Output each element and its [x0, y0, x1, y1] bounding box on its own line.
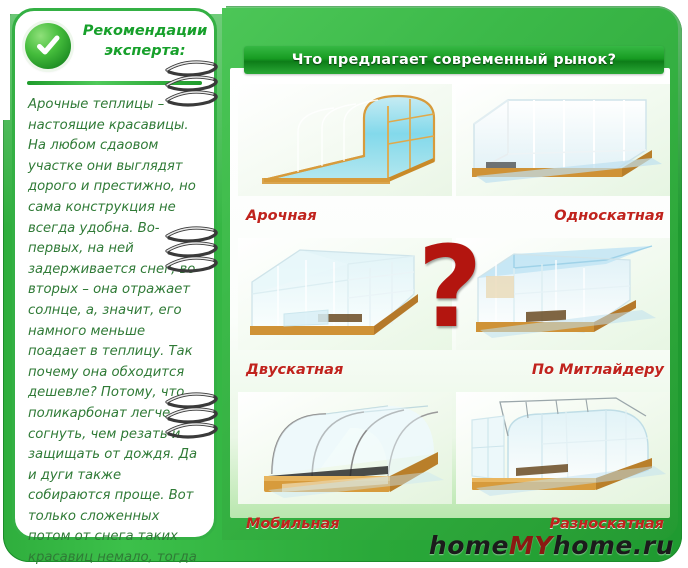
greenhouse-card-mobile[interactable]: Мобильная [238, 392, 452, 532]
watermark-part2: MY [509, 531, 553, 560]
spiral-coil-icon-1 [163, 56, 223, 112]
caption-mobile: Мобильная [246, 516, 460, 532]
card-title-line1: Рекомендации [79, 21, 211, 41]
caption-mittleider: По Митлайдеру [456, 362, 670, 378]
card-body-text: Арочные теплицы – настоящие красавицы. Н… [28, 95, 203, 568]
caption-gable: Двускатная [246, 362, 460, 378]
caption-arched: Арочная [246, 208, 460, 224]
greenhouse-card-uneven-slope[interactable]: Разноскатная [456, 392, 670, 532]
site-watermark: homeMYhome.ru [429, 531, 674, 560]
greenhouse-card-single-slope[interactable]: Односкатная [456, 84, 670, 224]
spiral-coil-icon-3 [163, 388, 223, 444]
banner-title: Что предлагает современный рынок? [292, 52, 616, 68]
green-check-badge-icon [25, 23, 71, 69]
single-slope-greenhouse-image [456, 84, 670, 196]
frame-left-notch [0, 0, 10, 120]
question-mark: ? [410, 232, 490, 344]
arched-greenhouse-image [238, 84, 452, 196]
uneven-slope-greenhouse-image [456, 392, 670, 504]
watermark-part1: home [429, 531, 509, 560]
section-banner: Что предлагает современный рынок? [244, 46, 664, 74]
card-title: Рекомендации эксперта: [79, 21, 211, 61]
caption-single-slope: Односкатная [456, 208, 670, 224]
mobile-greenhouse-image [238, 392, 452, 504]
infographic-canvas: Что предлагает современный рынок? [0, 0, 688, 568]
caption-uneven-slope: Разноскатная [456, 516, 670, 532]
greenhouse-card-arched[interactable]: Арочная [238, 84, 452, 224]
spiral-coil-icon-2 [163, 222, 223, 278]
watermark-part3: home.ru [553, 531, 674, 560]
